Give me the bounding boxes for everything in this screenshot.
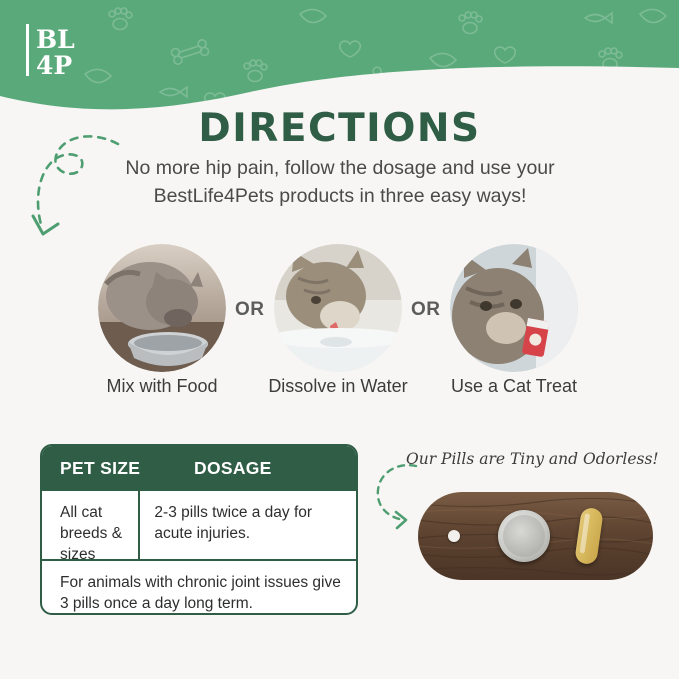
step-separator-1: OR: [235, 299, 265, 321]
pill-note-text: Our Pills are Tiny and Odorless!: [406, 450, 666, 468]
table-header-dosage: DOSAGE: [182, 458, 272, 479]
table-cell-dosage: 2-3 pills twice a day for acute injuries…: [140, 491, 356, 559]
dosage-table: PET SIZE DOSAGE All cat breeds & sizes 2…: [40, 444, 358, 615]
logo-line-2: 4P: [36, 51, 72, 80]
capsule-highlight: [580, 513, 591, 553]
table-row: All cat breeds & sizes 2-3 pills twice a…: [42, 491, 356, 561]
steps-row: OR OR: [0, 244, 679, 394]
step-image-use-a-cat-treat: [450, 244, 578, 372]
page-subtitle: No more hip pain, follow the dosage and …: [120, 155, 560, 210]
table-cell-pet-size: All cat breeds & sizes: [42, 491, 140, 559]
step-caption-1: Mix with Food: [62, 376, 262, 397]
brand-logo: BL 4P: [26, 22, 80, 84]
tiny-pill-dot: [448, 530, 460, 542]
step-image-mix-with-food: [98, 244, 226, 372]
top-banner: BL 4P: [0, 0, 679, 110]
pill-size-comparison-board: [418, 492, 653, 580]
table-footnote: For animals with chronic joint issues gi…: [42, 561, 356, 615]
step-caption-2: Dissolve in Water: [238, 376, 438, 397]
step-caption-3: Use a Cat Treat: [414, 376, 614, 397]
small-curved-arrow-doodle-icon: [368, 460, 424, 540]
logo-mark-icon: BL 4P: [26, 22, 80, 80]
step-image-dissolve-in-water: [274, 244, 402, 372]
table-header-pet-size: PET SIZE: [42, 458, 182, 479]
banner-wave-divider: [0, 66, 679, 110]
step-separator-2: OR: [411, 299, 441, 321]
coin-inner-face: [503, 515, 545, 557]
dime-coin: [498, 510, 550, 562]
table-header-row: PET SIZE DOSAGE: [42, 446, 356, 491]
logo-line-1: BL: [36, 25, 75, 54]
